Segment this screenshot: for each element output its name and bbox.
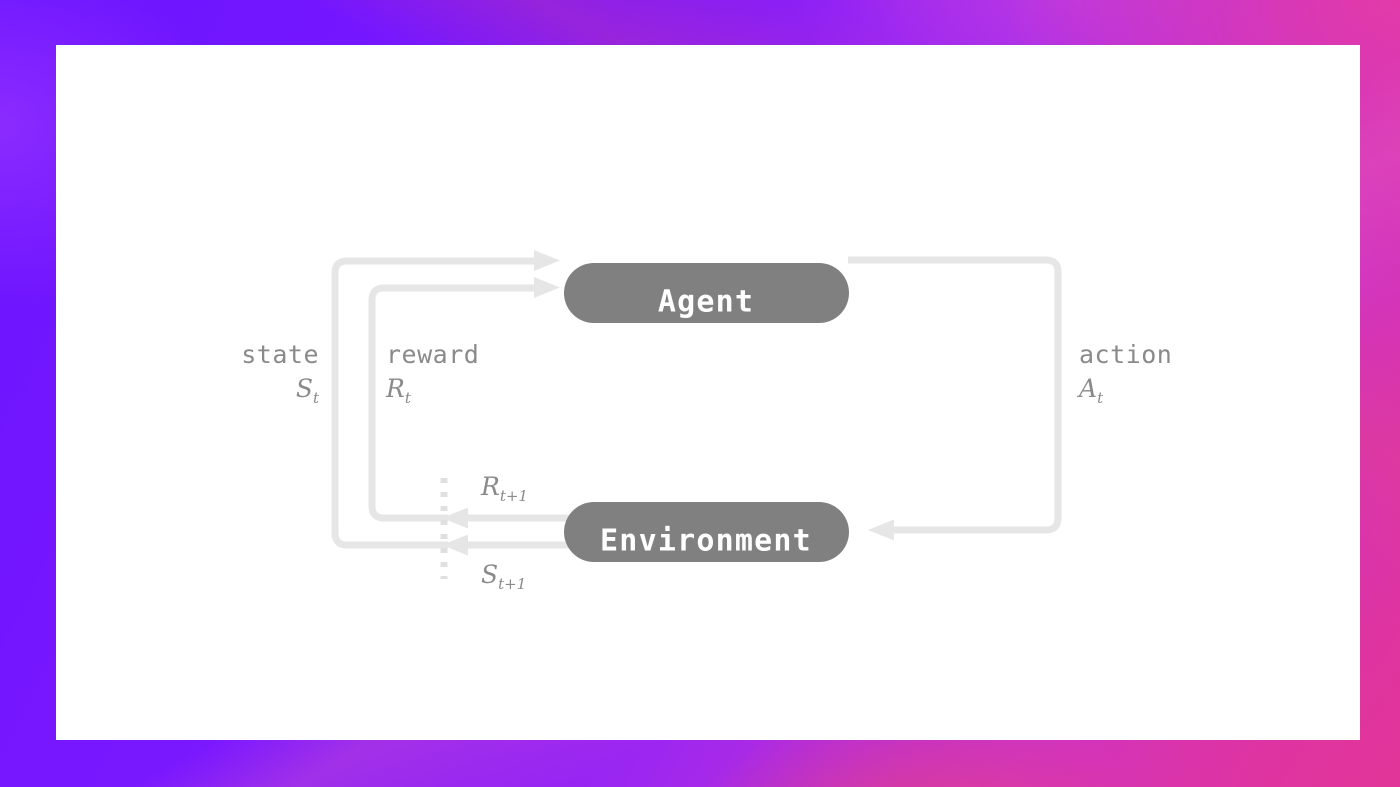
state-next-symbol-subscript: t+1: [498, 575, 526, 593]
reward-label-word: reward: [386, 340, 479, 369]
state-label-symbol: St: [296, 374, 320, 407]
action-label-symbol: At: [1077, 374, 1104, 407]
state-connector-arrowhead: [534, 250, 560, 271]
agent-environment-diagram: Agent Environment state St reward Rt: [56, 45, 1360, 740]
reward-connector-path: [372, 288, 534, 518]
reward-connector-arrowhead: [534, 277, 560, 298]
agent-node-label: Agent: [658, 285, 754, 320]
environment-node-label: Environment: [600, 524, 812, 559]
label-state-next: St+1: [481, 560, 526, 593]
state-symbol-subscript: t: [313, 389, 320, 407]
reward-symbol-base: R: [385, 374, 405, 403]
action-symbol-base: A: [1077, 374, 1097, 403]
state-label-word: state: [241, 340, 319, 369]
slide-card: Agent Environment state St reward Rt: [56, 45, 1360, 740]
state-next-symbol: St+1: [481, 560, 526, 593]
action-connector-arrowhead: [868, 520, 894, 541]
action-symbol-subscript: t: [1097, 389, 1104, 407]
node-agent[interactable]: Agent: [564, 263, 849, 323]
screenshot-root: Agent Environment state St reward Rt: [0, 0, 1400, 787]
reward-next-symbol-base: R: [480, 472, 500, 501]
reward-next-symbol: Rt+1: [480, 472, 528, 505]
reward-symbol-subscript: t: [405, 389, 412, 407]
label-state: state St: [241, 340, 320, 407]
action-label-word: action: [1079, 340, 1172, 369]
label-reward-next: Rt+1: [480, 472, 528, 505]
reward-next-symbol-subscript: t+1: [500, 487, 528, 505]
state-symbol-base: S: [296, 374, 313, 403]
reward-label-symbol: Rt: [385, 374, 412, 407]
node-environment[interactable]: Environment: [564, 502, 849, 562]
label-reward: reward Rt: [385, 340, 479, 407]
label-action: action At: [1077, 340, 1172, 407]
action-connector-path: [848, 260, 1058, 530]
state-next-symbol-base: S: [481, 560, 498, 589]
